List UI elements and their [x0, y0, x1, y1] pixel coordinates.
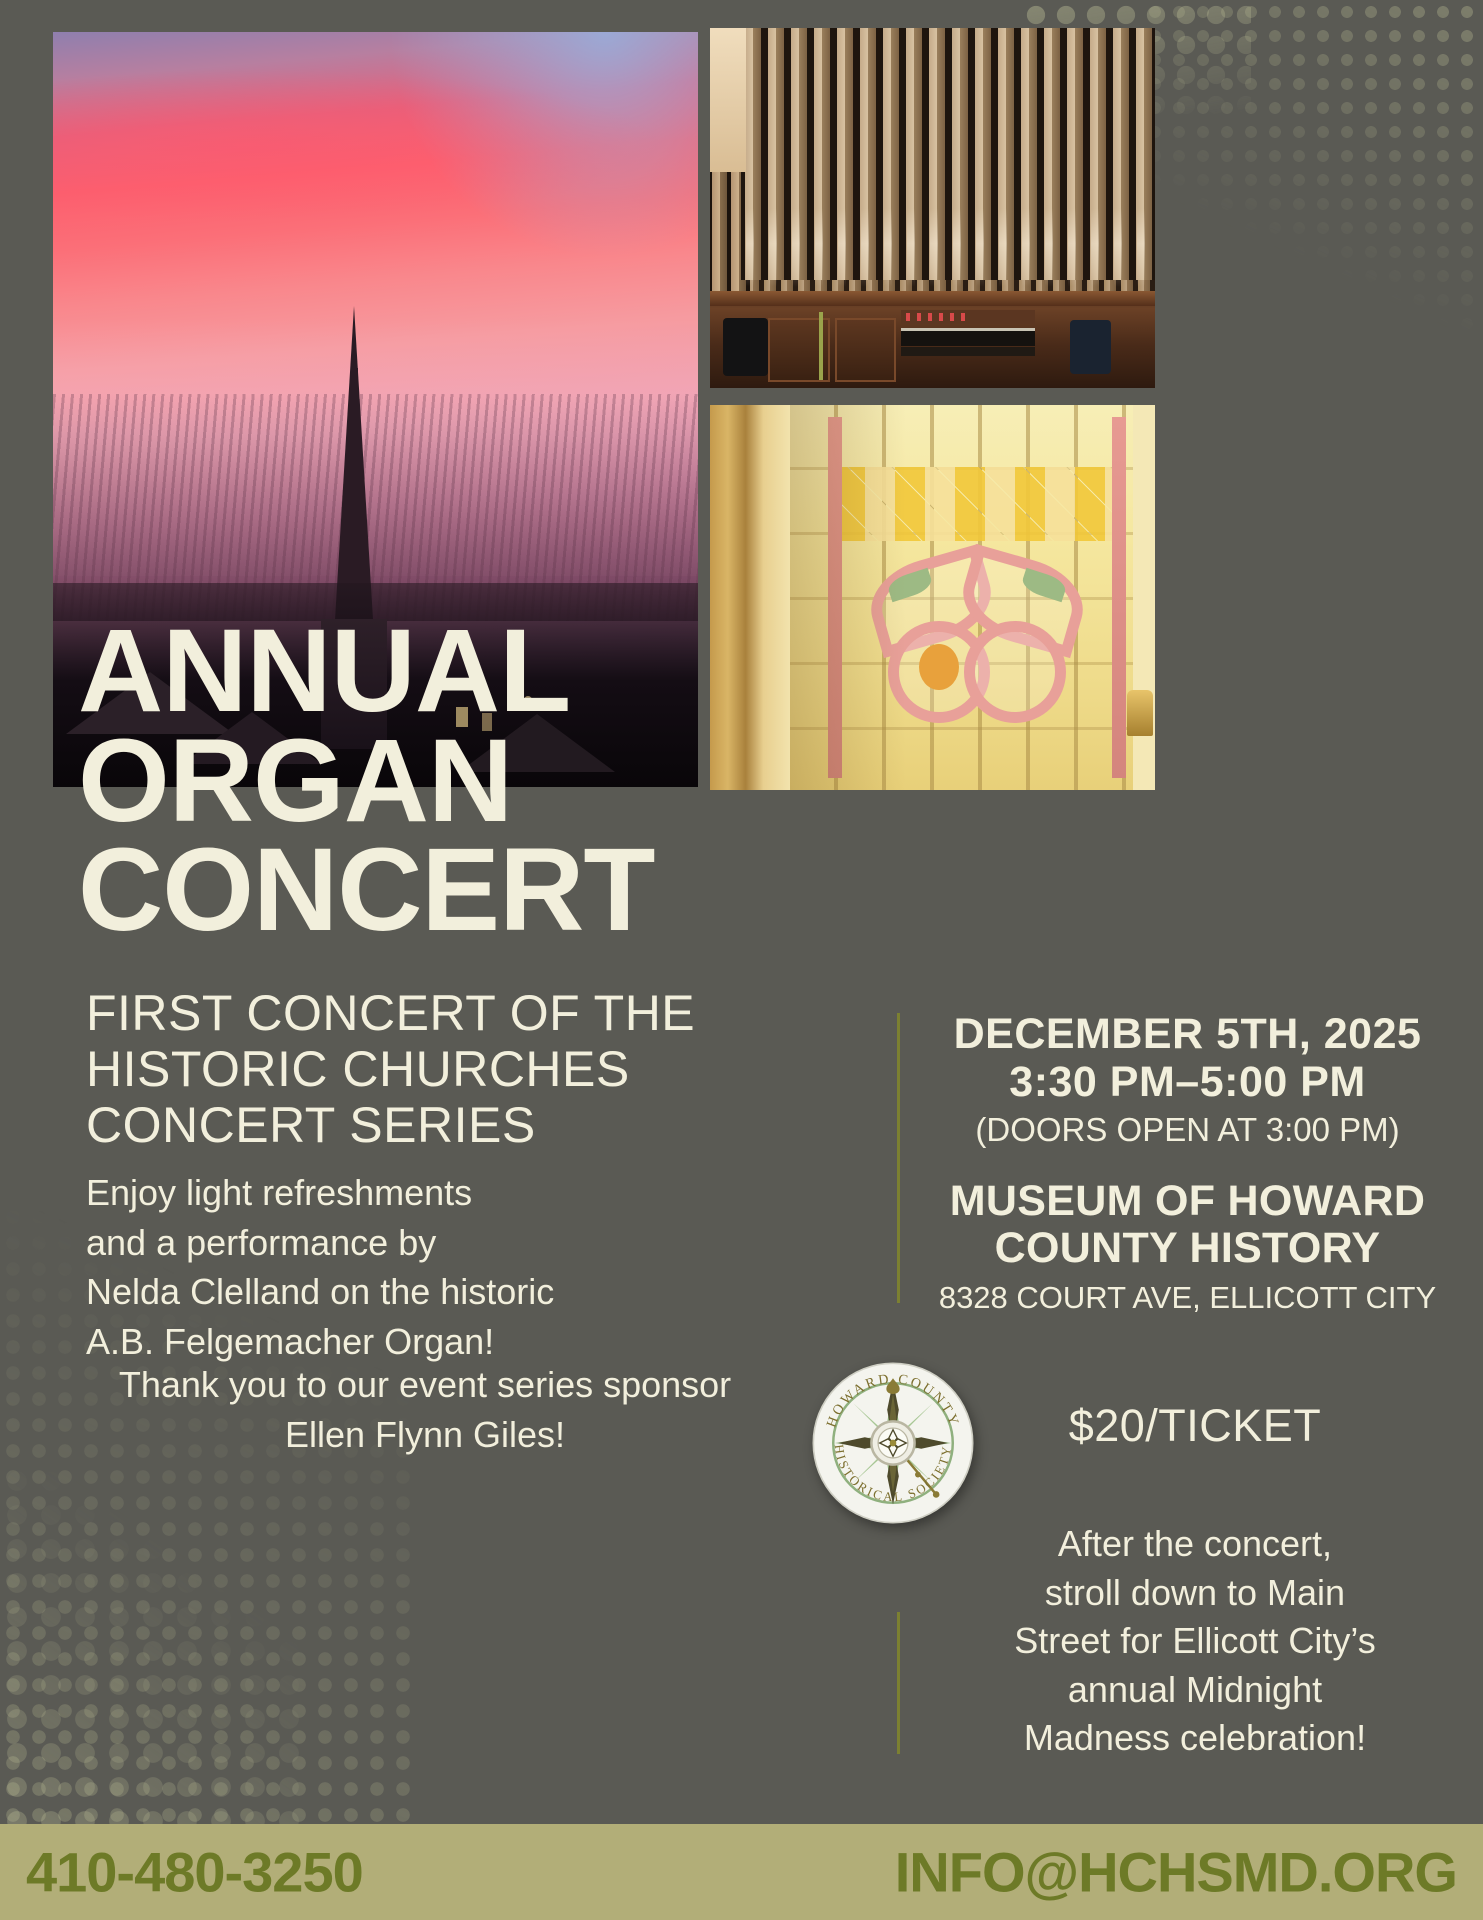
howard-county-historical-society-logo: HOWARD COUNTY HISTORICAL SOCIETY: [810, 1360, 976, 1526]
event-time: 3:30 PM–5:00 PM: [915, 1058, 1460, 1106]
loudspeaker-right: [1070, 320, 1110, 374]
vertical-divider-bottom: [897, 1612, 900, 1754]
headline-line-1: ANNUAL: [78, 617, 778, 727]
halftone-dot-pattern-bottom-left-large: [0, 1464, 300, 1824]
pink-border-right: [1112, 417, 1126, 779]
contact-email[interactable]: INFO@HCHSMD.ORG: [895, 1840, 1457, 1905]
description-text: Enjoy light refreshments and a performan…: [86, 1168, 746, 1367]
headline-line-2: ORGAN: [78, 727, 778, 837]
wall-highlight: [710, 28, 746, 172]
afterparty-line-4: annual Midnight: [955, 1666, 1435, 1715]
afterparty-line-1: After the concert,: [955, 1520, 1435, 1569]
doors-open-note: (DOORS OPEN AT 3:00 PM): [915, 1110, 1460, 1150]
subtitle: FIRST CONCERT OF THE HISTORIC CHURCHES C…: [86, 985, 746, 1153]
organ-pipe-mouths: [741, 208, 1155, 287]
console-panel-right: [835, 318, 897, 382]
subtitle-line-3: CONCERT SERIES: [86, 1097, 746, 1153]
organ-console: [710, 291, 1155, 388]
organ-stop-knobs: [906, 313, 968, 321]
glass-shadow-band: [790, 405, 906, 790]
floral-ring-right: [964, 621, 1066, 723]
organ-lower-keyboard: [901, 347, 1035, 356]
organ-manual-keyboard: [901, 328, 1035, 347]
afterparty-line-3: Street for Ellicott City’s: [955, 1617, 1435, 1666]
console-cornice: [710, 291, 1155, 307]
sponsor-line-1: Thank you to our event series sponsor: [80, 1360, 770, 1410]
contact-phone[interactable]: 410-480-3250: [26, 1840, 363, 1905]
afterparty-text: After the concert, stroll down to Main S…: [955, 1520, 1435, 1763]
sky-cloud-band: [53, 62, 698, 228]
subtitle-line-1: FIRST CONCERT OF THE: [86, 985, 746, 1041]
afterparty-line-5: Madness celebration!: [955, 1714, 1435, 1763]
ticket-price: $20/TICKET: [985, 1400, 1405, 1452]
green-marker-strip: [819, 312, 823, 380]
halftone-dot-pattern-top-right: [1143, 0, 1483, 400]
body-line-1: Enjoy light refreshments: [86, 1168, 746, 1218]
afterparty-line-2: stroll down to Main: [955, 1569, 1435, 1618]
venue-name: MUSEUM OF HOWARD COUNTY HISTORY: [915, 1178, 1460, 1273]
event-details-block: DECEMBER 5TH, 2025 3:30 PM–5:00 PM (DOOR…: [915, 1010, 1460, 1316]
brass-fixture: [1127, 690, 1153, 736]
footer-contact-bar: 410-480-3250 INFO@HCHSMD.ORG: [0, 1824, 1483, 1920]
venue-address: 8328 COURT AVE, ELLICOTT CITY: [915, 1279, 1460, 1316]
venue-line-2: COUNTY HISTORY: [995, 1224, 1381, 1272]
body-line-2: and a performance by: [86, 1218, 746, 1268]
page-title: ANNUAL ORGAN CONCERT: [78, 617, 778, 946]
headline-line-3: CONCERT: [78, 836, 778, 946]
vertical-divider-top: [897, 1013, 900, 1303]
venue-line-1: MUSEUM OF HOWARD: [950, 1177, 1425, 1225]
subtitle-line-2: HISTORIC CHURCHES: [86, 1041, 746, 1097]
pipe-organ-photo: [710, 28, 1155, 388]
body-line-3: Nelda Clelland on the historic: [86, 1267, 746, 1317]
event-date: DECEMBER 5TH, 2025: [915, 1010, 1460, 1058]
sponsor-line-2: Ellen Flynn Giles!: [80, 1410, 770, 1460]
loudspeaker-left: [723, 318, 768, 376]
amber-center-glass: [919, 644, 959, 690]
sponsor-thanks-text: Thank you to our event series sponsor El…: [80, 1360, 770, 1459]
